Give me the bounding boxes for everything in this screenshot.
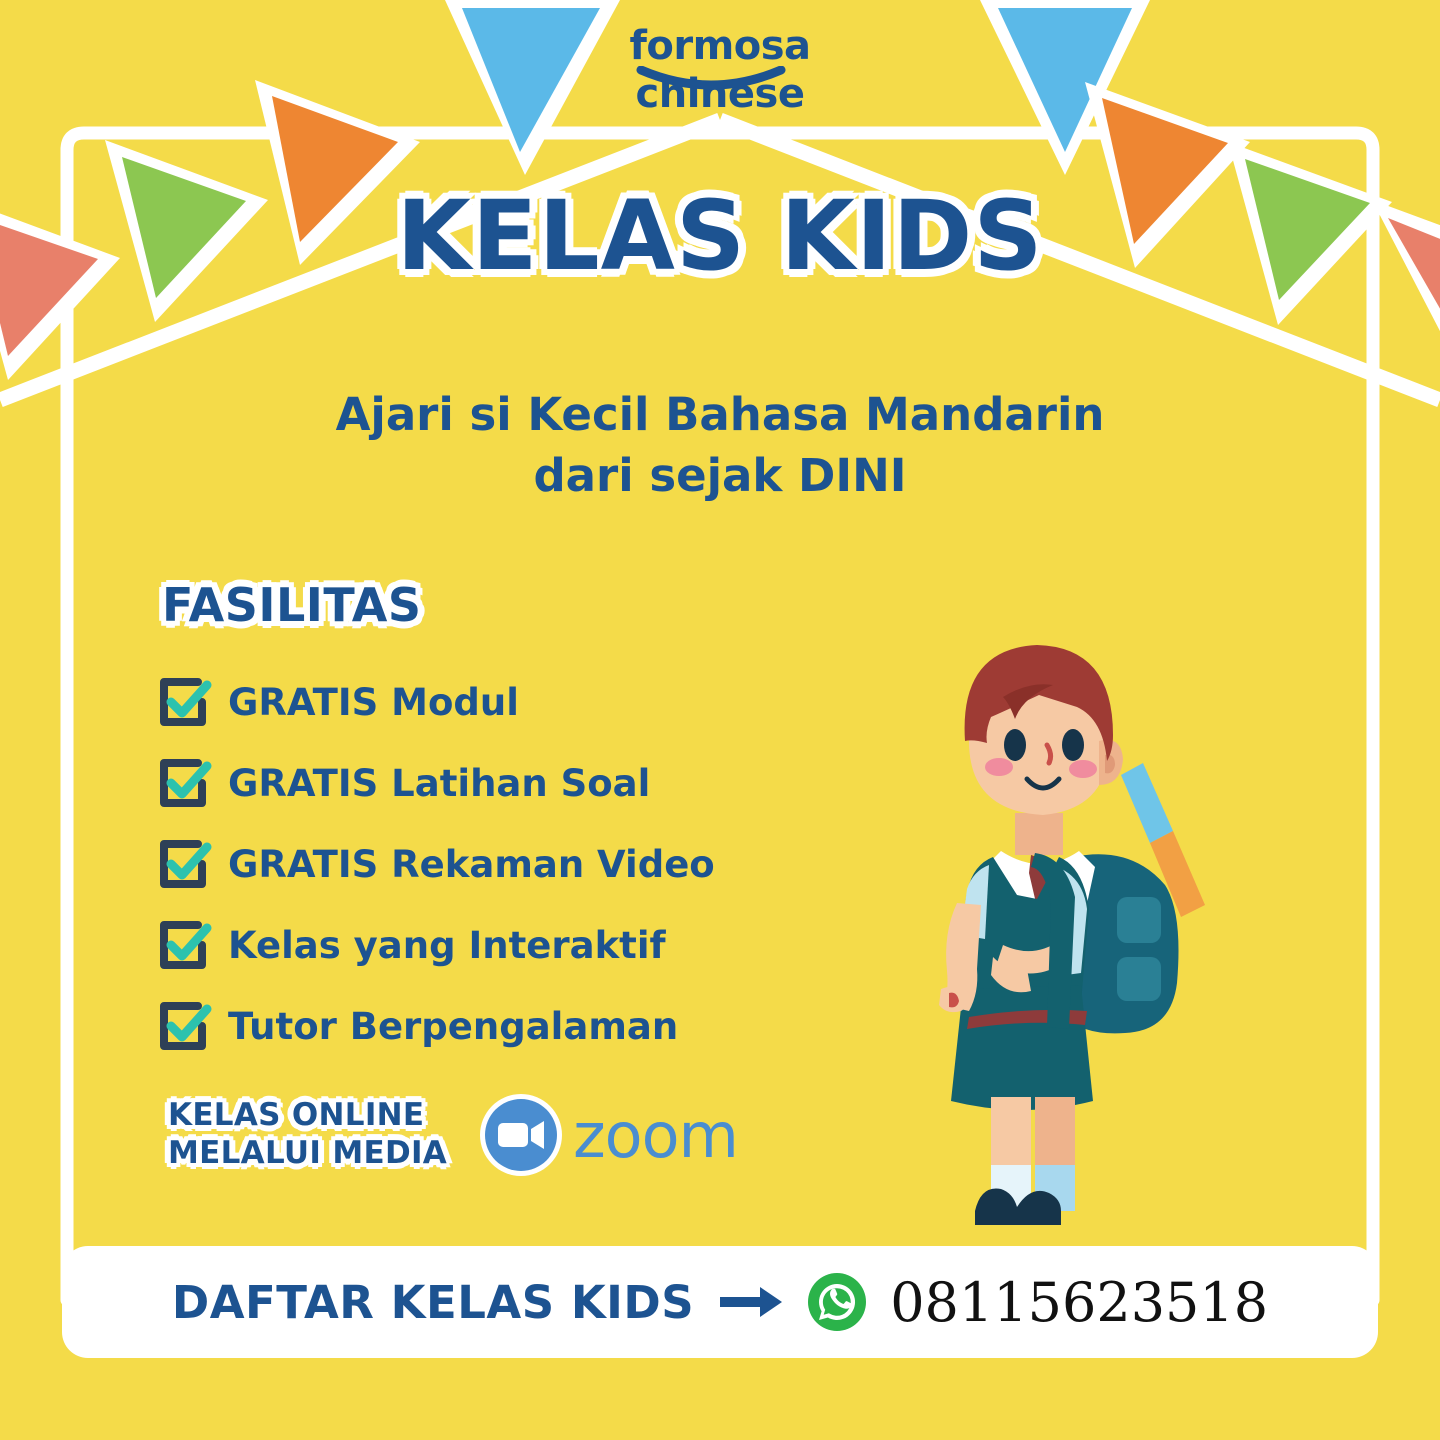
online-media-line-2: MELALUI MEDIA — [168, 1135, 447, 1173]
checkbox-checked-icon — [158, 757, 212, 811]
online-media-block: KELAS ONLINE MELALUI MEDIA zoom — [168, 1093, 738, 1177]
smile-arc-icon — [636, 66, 786, 96]
cheek-right — [1069, 760, 1097, 778]
logo-word-formosa: formosa — [0, 26, 1440, 66]
brand-logo: formosa chinese — [0, 26, 1440, 114]
cheek-left — [985, 758, 1013, 776]
checkbox-checked-icon — [158, 1000, 212, 1054]
list-item-label: Kelas yang Interaktif — [228, 924, 666, 967]
list-item-label: GRATIS Latihan Soal — [228, 762, 650, 805]
list-item: GRATIS Latihan Soal — [158, 743, 858, 824]
eye-right — [1062, 729, 1084, 761]
list-item: Tutor Berpengalaman — [158, 986, 858, 1067]
facilities-heading: FASILITAS — [162, 578, 421, 632]
backpack-pocket-top — [1117, 897, 1161, 943]
subtitle-line-2: dari sejak DINI — [0, 446, 1440, 507]
list-item: GRATIS Rekaman Video — [158, 824, 858, 905]
cta-bar[interactable]: DAFTAR KELAS KIDS 08115623518 — [62, 1246, 1378, 1358]
arrow-right-icon — [718, 1285, 784, 1319]
whatsapp-icon[interactable] — [806, 1271, 868, 1333]
eye-left — [1004, 729, 1026, 761]
facilities-list: GRATIS Modul GRATIS Latihan Soal GRATIS … — [158, 662, 858, 1067]
checkbox-checked-icon — [158, 676, 212, 730]
zoom-wordmark: zoom — [573, 1099, 738, 1172]
contact-phone-number: 08115623518 — [890, 1271, 1268, 1334]
backpack-pocket-bottom — [1117, 957, 1161, 1001]
poster-canvas: formosa chinese KELAS KIDS Ajari si Keci… — [0, 0, 1440, 1440]
page-title: KELAS KIDS — [0, 186, 1440, 287]
schoolboy-with-backpack-illustration — [905, 645, 1205, 1225]
list-item-label: Tutor Berpengalaman — [228, 1005, 678, 1048]
zoom-video-camera-icon — [479, 1093, 563, 1177]
subtitle: Ajari si Kecil Bahasa Mandarin dari seja… — [0, 385, 1440, 507]
list-item-label: GRATIS Modul — [228, 681, 519, 724]
cta-label: DAFTAR KELAS KIDS — [172, 1276, 694, 1329]
list-item: GRATIS Modul — [158, 662, 858, 743]
checkbox-checked-icon — [158, 838, 212, 892]
list-item: Kelas yang Interaktif — [158, 905, 858, 986]
online-media-text: KELAS ONLINE MELALUI MEDIA — [168, 1097, 447, 1173]
subtitle-line-1: Ajari si Kecil Bahasa Mandarin — [0, 385, 1440, 446]
zoom-logo: zoom — [479, 1093, 738, 1177]
checkbox-checked-icon — [158, 919, 212, 973]
online-media-line-1: KELAS ONLINE — [168, 1097, 447, 1135]
list-item-label: GRATIS Rekaman Video — [228, 843, 715, 886]
